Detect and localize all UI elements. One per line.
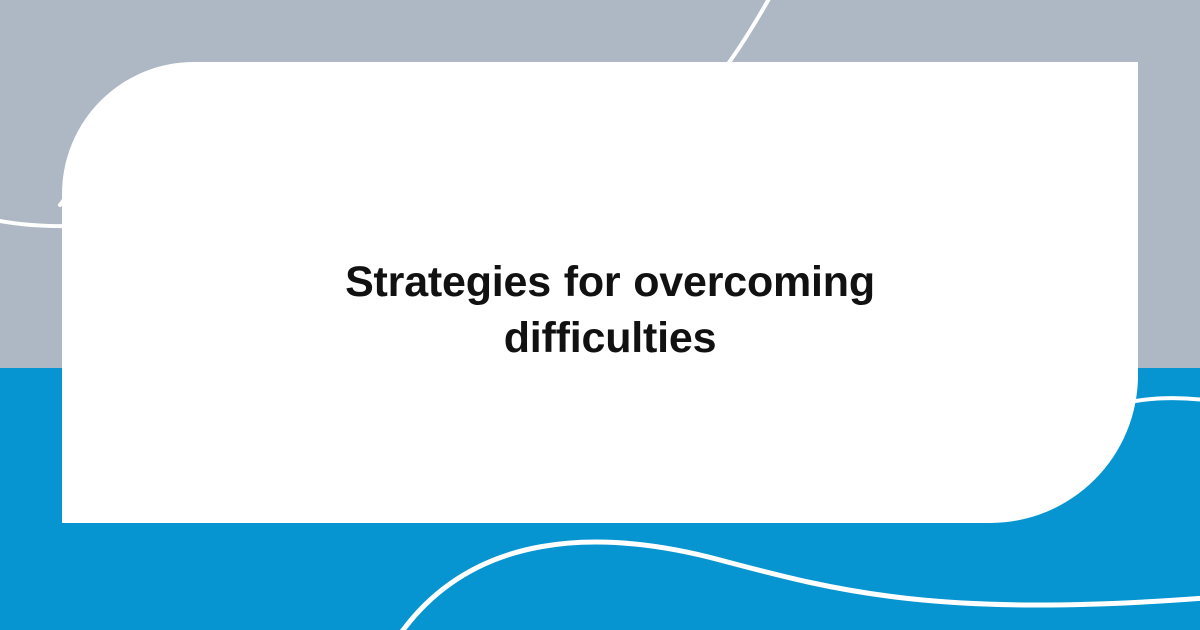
content-card: Strategies for overcoming difficulties bbox=[62, 62, 1138, 523]
page-title: Strategies for overcoming difficulties bbox=[300, 255, 920, 365]
slide-canvas: Strategies for overcoming difficulties bbox=[0, 0, 1200, 630]
headline-block: Strategies for overcoming difficulties bbox=[280, 219, 920, 365]
